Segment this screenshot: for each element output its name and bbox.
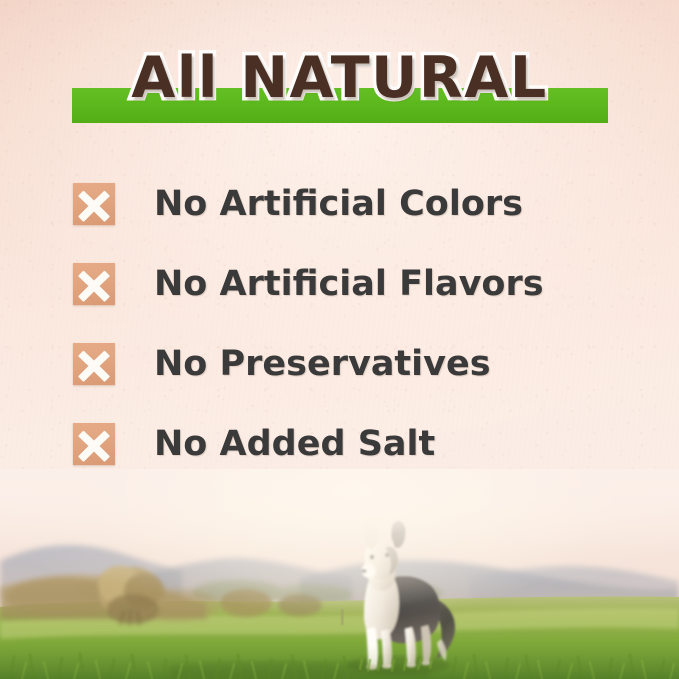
poster: All NATURAL No Artificial Colors No Arti… [0,0,679,679]
list-item-label: No Added Salt [154,423,435,465]
list-item: No Artificial Flavors [73,263,613,305]
x-mark-icon [73,343,115,385]
list-item-label: No Preservatives [154,343,491,385]
list-item-label: No Artificial Flavors [154,263,544,305]
list-item: No Artificial Colors [73,183,613,225]
feature-list: No Artificial Colors No Artificial Flavo… [73,183,613,503]
x-mark-icon [73,423,115,465]
x-mark-icon [73,183,115,225]
landscape-photo [0,469,679,679]
list-item: No Added Salt [73,423,613,465]
x-mark-icon [73,263,115,305]
list-item: No Preservatives [73,343,613,385]
page-title: All NATURAL [0,48,679,108]
list-item-label: No Artificial Colors [154,183,523,225]
